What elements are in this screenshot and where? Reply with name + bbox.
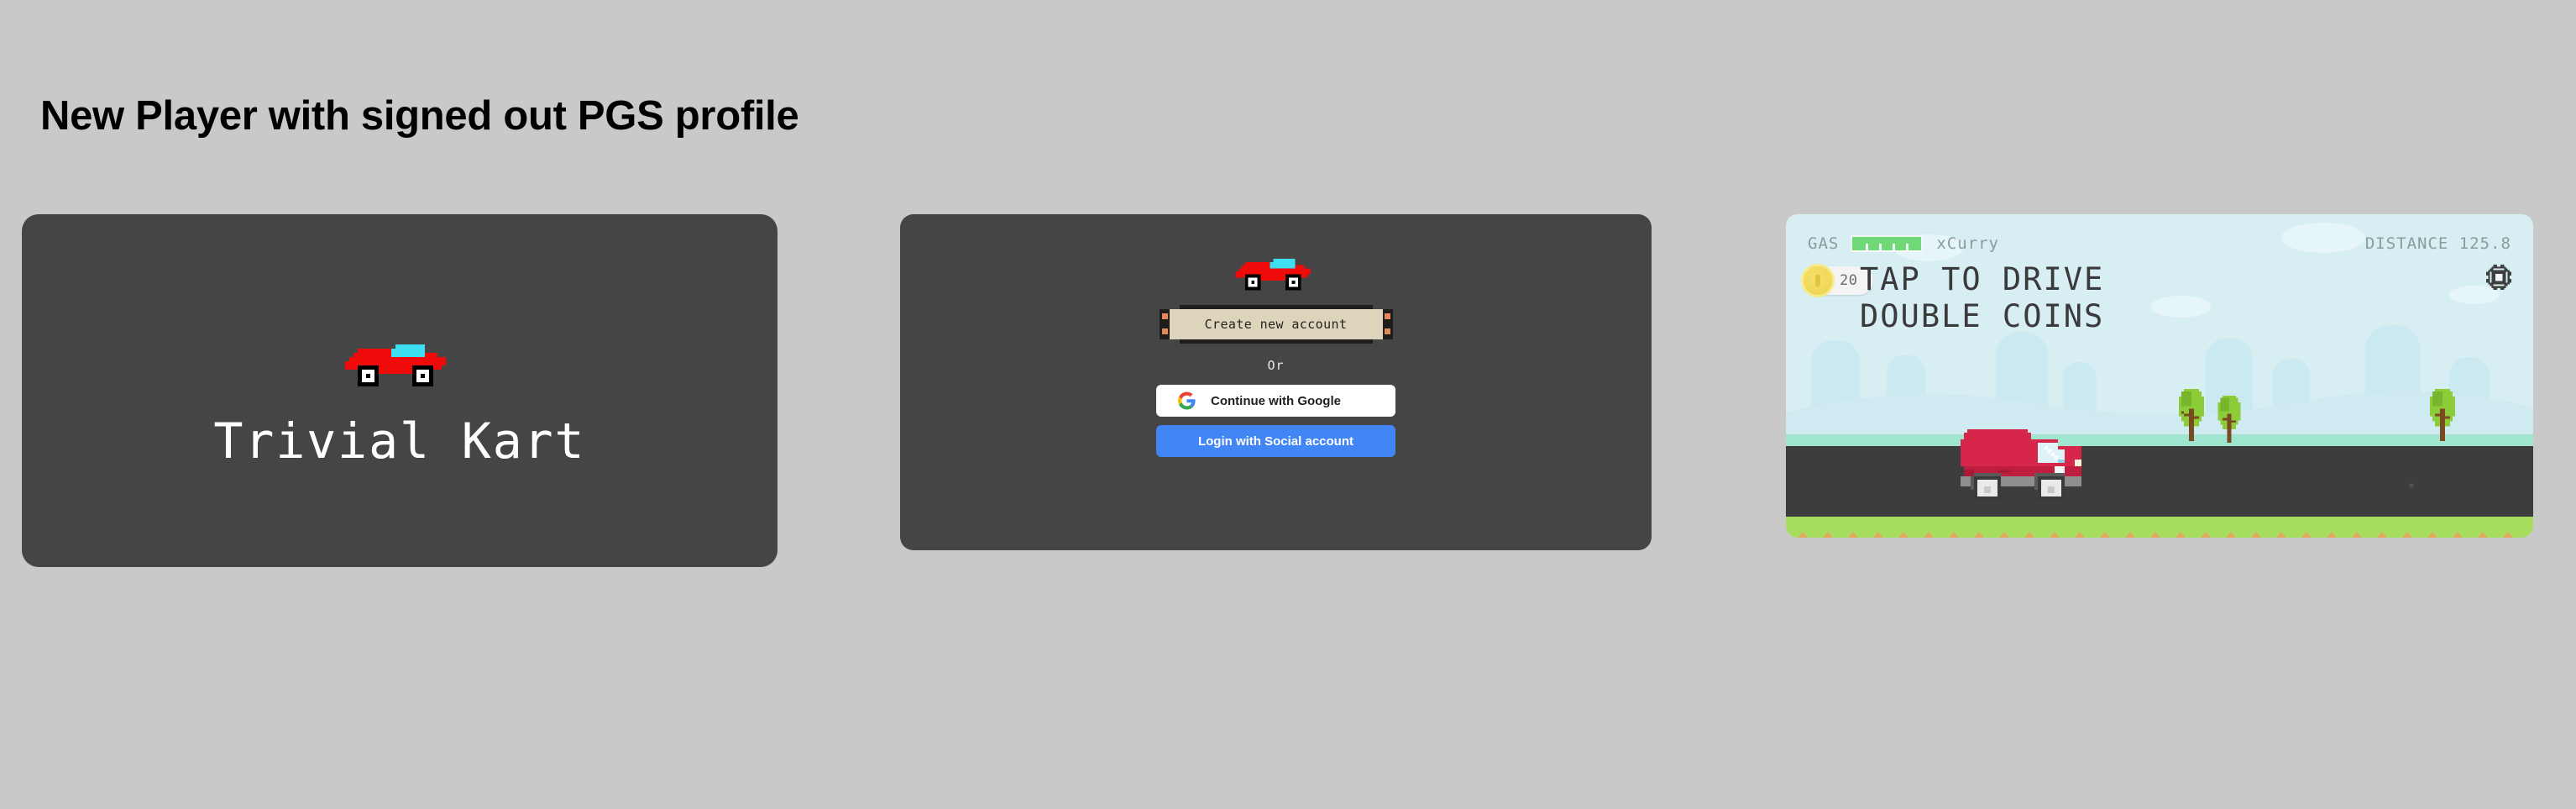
google-g-icon <box>1178 392 1196 410</box>
panel-launch: Trivial Kart Player launches game <box>22 214 778 567</box>
gas-meter-notch <box>1906 244 1908 250</box>
dirt-zigzag-edge <box>1786 532 2533 538</box>
login-with-social-account-button[interactable]: Login with Social account <box>1156 425 1395 457</box>
create-new-account-button[interactable]: Create new account <box>1160 305 1393 344</box>
slide-root: New Player with signed out PGS profile <box>0 0 2576 809</box>
page-title: New Player with signed out PGS profile <box>40 92 798 139</box>
distance-readout: DISTANCE 125.8 <box>2365 234 2511 253</box>
game-hud: GAS xCurry DISTANCE 125.8 <box>1786 233 2533 255</box>
pixel-truck-red-icon <box>1954 419 2108 511</box>
panel-iga-options: Create new account Or Continue with Goog… <box>900 214 1652 550</box>
continue-with-google-button[interactable]: Continue with Google <box>1156 385 1395 417</box>
road-detail-dot <box>2409 483 2414 488</box>
gas-meter-fill <box>1852 237 1921 250</box>
gas-meter-notch <box>1866 244 1868 250</box>
game-title: Trivial Kart <box>213 412 585 470</box>
gas-label: GAS <box>1808 234 1839 253</box>
player-name: xCurry <box>1936 234 1999 253</box>
iga-options-card: Create new account Or Continue with Goog… <box>900 214 1652 550</box>
pixel-car-red-icon <box>1233 250 1320 293</box>
panel-signed-in: GAS xCurry DISTANCE 125.8 20 TAP TO DRIV… <box>1786 214 2533 538</box>
pixel-tree-icon <box>2176 389 2207 445</box>
game-screen-text: TAP TO DRIVE DOUBLE COINS <box>1860 261 2104 334</box>
gas-meter-notch <box>1893 244 1895 250</box>
pixel-tree-icon <box>2427 389 2458 445</box>
road-band <box>1786 446 2533 517</box>
gas-meter <box>1851 235 1923 252</box>
grass-strip-far <box>1786 434 2533 446</box>
gear-icon[interactable] <box>2484 263 2513 292</box>
coin-count: 20 <box>1840 272 1857 289</box>
pixel-tree-icon <box>2216 396 2243 447</box>
create-new-account-label: Create new account <box>1160 305 1393 344</box>
continue-with-google-label: Continue with Google <box>1211 394 1341 408</box>
game-screen-card: GAS xCurry DISTANCE 125.8 20 TAP TO DRIV… <box>1786 214 2533 538</box>
splash-screen-card: Trivial Kart <box>22 214 778 567</box>
coin-icon <box>1801 264 1835 297</box>
login-with-social-account-label: Login with Social account <box>1198 434 1353 449</box>
gas-meter-notch <box>1879 244 1882 250</box>
or-divider-label: Or <box>1267 358 1284 373</box>
pixel-car-red-icon <box>341 332 458 391</box>
